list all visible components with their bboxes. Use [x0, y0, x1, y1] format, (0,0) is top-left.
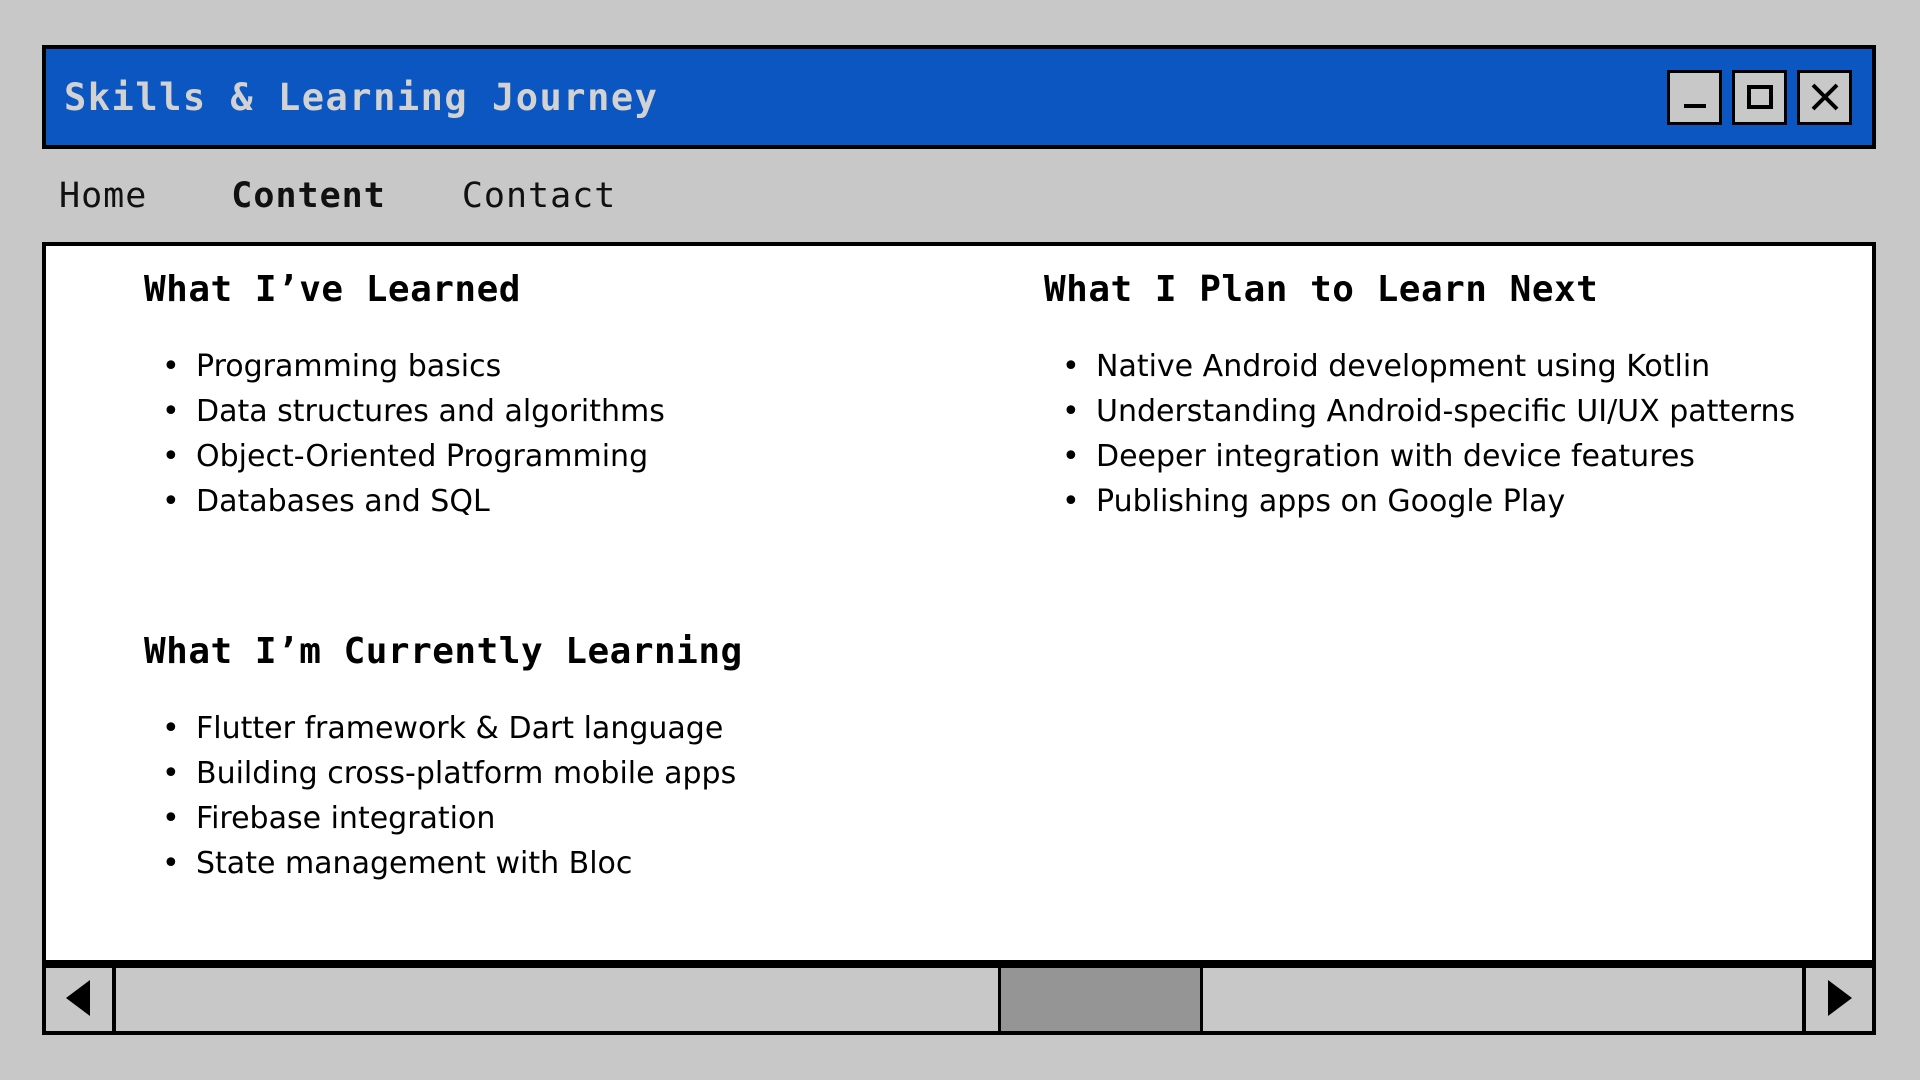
minimize-button[interactable] — [1667, 70, 1722, 125]
list-item: Object-Oriented Programming — [144, 434, 962, 479]
close-button[interactable] — [1797, 70, 1852, 125]
minimize-icon — [1678, 80, 1712, 114]
maximize-button[interactable] — [1732, 70, 1787, 125]
scroll-left-button[interactable] — [42, 964, 116, 1035]
content-panel: What I’ve Learned Programming basics Dat… — [42, 242, 1876, 964]
list-item: Building cross-platform mobile apps — [144, 751, 962, 796]
maximize-icon — [1743, 80, 1777, 114]
nav-item-home[interactable]: Home — [59, 176, 147, 216]
list-item: Databases and SQL — [144, 479, 962, 524]
list-item: Native Android development using Kotlin — [1044, 344, 1872, 389]
section-heading-learned: What I’ve Learned — [144, 269, 962, 310]
navigation-bar: Home Content Contact — [42, 149, 1876, 242]
close-icon — [1808, 80, 1842, 114]
list-currently-learning: Flutter framework & Dart language Buildi… — [144, 706, 962, 886]
list-item: Programming basics — [144, 344, 962, 389]
triangle-left-icon — [60, 976, 98, 1023]
content-columns: What I’ve Learned Programming basics Dat… — [46, 246, 1872, 960]
list-item: Deeper integration with device features — [1044, 434, 1872, 479]
background-watermark — [838, 1036, 1088, 1070]
list-learned: Programming basics Data structures and a… — [144, 344, 962, 524]
application-window: Skills & Learning Journey — [42, 45, 1876, 1035]
title-bar[interactable]: Skills & Learning Journey — [42, 45, 1876, 149]
section-heading-currently-learning: What I’m Currently Learning — [144, 631, 962, 672]
nav-item-contact[interactable]: Contact — [462, 176, 617, 216]
nav-item-content[interactable]: Content — [231, 176, 386, 216]
list-item: Understanding Android-specific UI/UX pat… — [1044, 389, 1872, 434]
horizontal-scrollbar[interactable] — [42, 964, 1876, 1035]
scroll-right-button[interactable] — [1802, 964, 1876, 1035]
window-controls — [1667, 70, 1852, 125]
right-column: What I Plan to Learn Next Native Android… — [962, 269, 1872, 960]
window-title: Skills & Learning Journey — [64, 76, 658, 119]
list-plan-next: Native Android development using Kotlin … — [1044, 344, 1872, 524]
left-column: What I’ve Learned Programming basics Dat… — [46, 269, 962, 960]
list-item: Flutter framework & Dart language — [144, 706, 962, 751]
list-item: Publishing apps on Google Play — [1044, 479, 1872, 524]
section-heading-plan-next: What I Plan to Learn Next — [1044, 269, 1872, 310]
triangle-right-icon — [1820, 976, 1858, 1023]
scrollbar-thumb[interactable] — [998, 968, 1204, 1031]
list-item: Firebase integration — [144, 796, 962, 841]
list-item: Data structures and algorithms — [144, 389, 962, 434]
list-item: State management with Bloc — [144, 841, 962, 886]
scrollbar-track[interactable] — [116, 964, 1802, 1035]
